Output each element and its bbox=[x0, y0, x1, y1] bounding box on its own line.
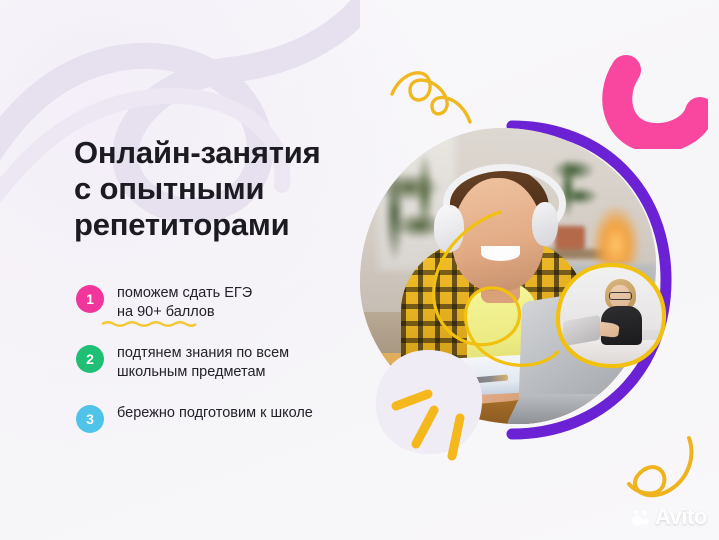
page-title: Онлайн-занятия с опытными репетиторами bbox=[74, 135, 364, 243]
headphones-cup-right bbox=[532, 202, 559, 246]
yellow-squiggle-top-icon bbox=[388, 62, 492, 128]
headphones-cup-left bbox=[434, 205, 464, 252]
benefit-badge-1: 1 bbox=[76, 285, 104, 313]
wavy-underline-icon bbox=[101, 320, 197, 327]
inset-yellow-outline bbox=[552, 260, 670, 372]
promo-poster: Онлайн-занятия с опытными репетиторами 1… bbox=[0, 0, 719, 540]
benefit-text-3: бережно подготовим к школе bbox=[117, 404, 313, 423]
laptop-base bbox=[507, 394, 656, 424]
benefit-badge-2: 2 bbox=[76, 345, 104, 373]
avito-dots-icon bbox=[631, 508, 650, 527]
tutor-inset-bubble bbox=[552, 260, 670, 372]
avito-watermark: Avito bbox=[631, 504, 707, 530]
list-item: 3 бережно подготовим к школе bbox=[76, 404, 396, 433]
benefits-list: 1 поможем сдать ЕГЭ на 90+ баллов 2 подт… bbox=[76, 284, 396, 454]
benefit-badge-3: 3 bbox=[76, 405, 104, 433]
avito-wordmark: Avito bbox=[655, 504, 707, 530]
list-item: 1 поможем сдать ЕГЭ на 90+ баллов bbox=[76, 284, 396, 323]
list-item: 2 подтянем знания по всем школьным предм… bbox=[76, 344, 396, 383]
benefit-text-1: поможем сдать ЕГЭ на 90+ баллов bbox=[117, 284, 252, 323]
yellow-squiggle-bottom-icon bbox=[623, 432, 715, 502]
benefit-text-2: подтянем знания по всем школьным предмет… bbox=[117, 344, 289, 383]
